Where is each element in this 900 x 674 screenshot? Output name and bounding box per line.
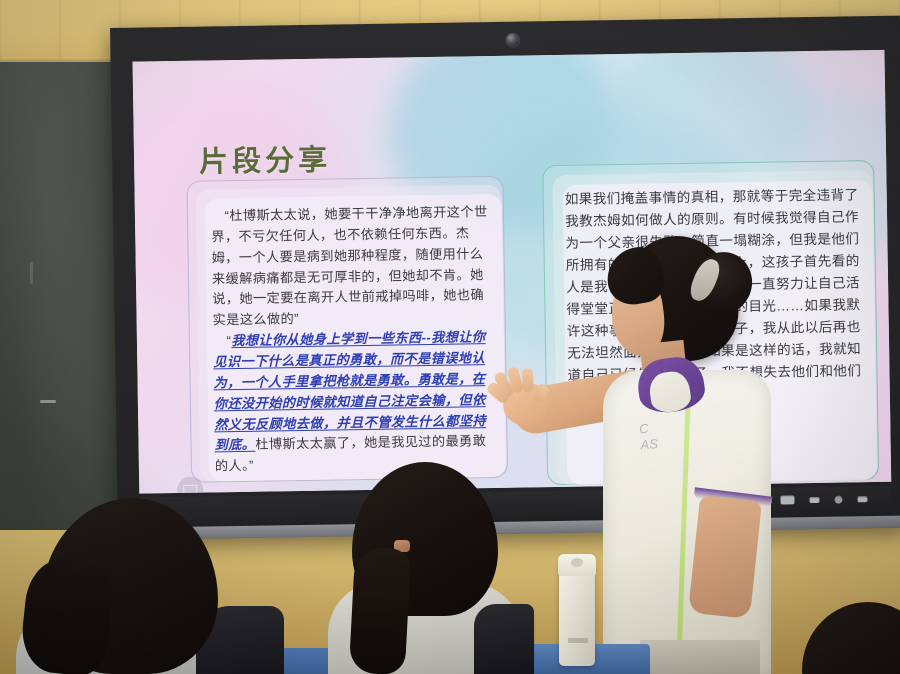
presenter-shirt-logo: CAS bbox=[638, 419, 675, 458]
bottle-button bbox=[571, 558, 583, 567]
student-center-neighbor-shoulder bbox=[474, 604, 534, 674]
quote-card-left: “杜博斯太太说，她要干干净净地离开这个世界，不亏欠任何人，也不依赖任何东西。杰姆… bbox=[186, 176, 506, 481]
classroom-scene: 片段分享 “杜博斯太太说，她要干干净净地离开这个世界，不亏欠任何人，也不依赖任何… bbox=[0, 0, 900, 674]
usb-port-icon bbox=[780, 495, 794, 504]
presenter-hand bbox=[489, 365, 556, 433]
left-card-text: “杜博斯太太说，她要干干净净地离开这个世界，不亏欠任何人，也不依赖任何东西。杰姆… bbox=[211, 202, 499, 478]
audio-jack-icon bbox=[834, 495, 842, 503]
left-paragraph-1: “杜博斯太太说，她要干干净净地离开这个世界，不亏欠任何人，也不依赖任何东西。杰姆… bbox=[211, 204, 488, 328]
presenter-forearm bbox=[688, 495, 762, 619]
hdmi-port-icon bbox=[809, 496, 819, 502]
port-panel[interactable] bbox=[780, 494, 867, 504]
presenter-lower-body bbox=[640, 640, 760, 674]
chalkboard bbox=[0, 62, 124, 530]
slide-title: 片段分享 bbox=[199, 137, 332, 181]
aux-port-icon bbox=[857, 496, 867, 502]
camera-icon bbox=[506, 34, 519, 47]
interactive-whiteboard[interactable]: 片段分享 “杜博斯太太说，她要干干净净地离开这个世界，不亏欠任何人，也不依赖任何… bbox=[110, 16, 900, 540]
student-center-ponytail bbox=[349, 547, 412, 674]
bottle-brand-label bbox=[568, 638, 588, 643]
left-quote-open: “ bbox=[213, 333, 232, 348]
